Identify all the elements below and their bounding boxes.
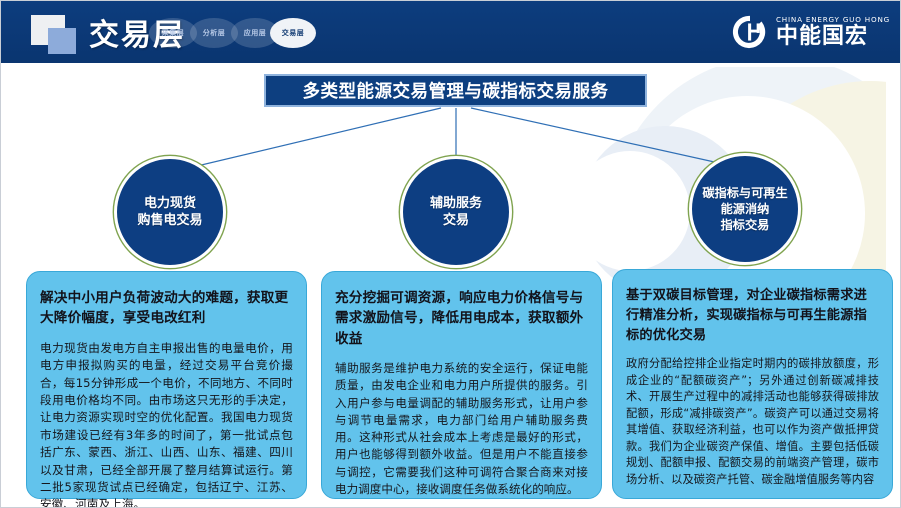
banner-title: 多类型能源交易管理与碳指标交易服务	[264, 74, 647, 107]
info-box-spot-power: 解决中小用户负荷波动大的难题，获取更大降价幅度，享受电改红利 电力现货由发电方自…	[26, 271, 307, 499]
banner-title-label: 多类型能源交易管理与碳指标交易服务	[303, 78, 609, 103]
node-ancillary-service-trading[interactable]: 辅助服务 交易	[400, 156, 512, 268]
info-box-carbon-renewable-heading: 基于双碳目标管理，对企业碳指标需求进行精准分析，实现碳指标与可再生能源指标的优化…	[626, 286, 879, 345]
info-box-ancillary-service-heading: 充分挖掘可调资源，响应电力价格信号与需求激励信号，降低用电成本，获取额外收益	[335, 288, 588, 349]
info-box-ancillary-service-body: 辅助服务是维护电力系统的安全运行，保证电能质量，由发电企业和电力用户所提供的服务…	[335, 360, 588, 498]
node-spot-power-trading[interactable]: 电力现货 购售电交易	[114, 156, 226, 268]
node-carbon-renewable-trading-label: 碳指标与可再生 能源消纳 指标交易	[702, 185, 787, 233]
info-box-spot-power-body: 电力现货由发电方自主申报出售的电量电价，用电方申报拟购买的电量，经过交易平台竞价…	[40, 340, 293, 508]
node-spot-power-trading-label: 电力现货 购售电交易	[137, 195, 202, 229]
info-box-spot-power-heading: 解决中小用户负荷波动大的难题，获取更大降价幅度，享受电改红利	[40, 288, 293, 329]
node-carbon-renewable-trading[interactable]: 碳指标与可再生 能源消纳 指标交易	[689, 153, 801, 265]
info-box-carbon-renewable-body: 政府分配给控排企业指定时期内的碳排放额度，形成企业的“配额碳资产”；另外通过创新…	[626, 356, 879, 488]
node-ancillary-service-trading-label: 辅助服务 交易	[430, 195, 482, 229]
info-box-ancillary-service: 充分挖掘可调资源，响应电力价格信号与需求激励信号，降低用电成本，获取额外收益 辅…	[321, 271, 602, 499]
slide-canvas: 交易层 采集层 分析层 应用层 交易层 CHINA ENER	[0, 0, 901, 508]
info-box-carbon-renewable: 基于双碳目标管理，对企业碳指标需求进行精准分析，实现碳指标与可再生能源指标的优化…	[612, 269, 893, 499]
